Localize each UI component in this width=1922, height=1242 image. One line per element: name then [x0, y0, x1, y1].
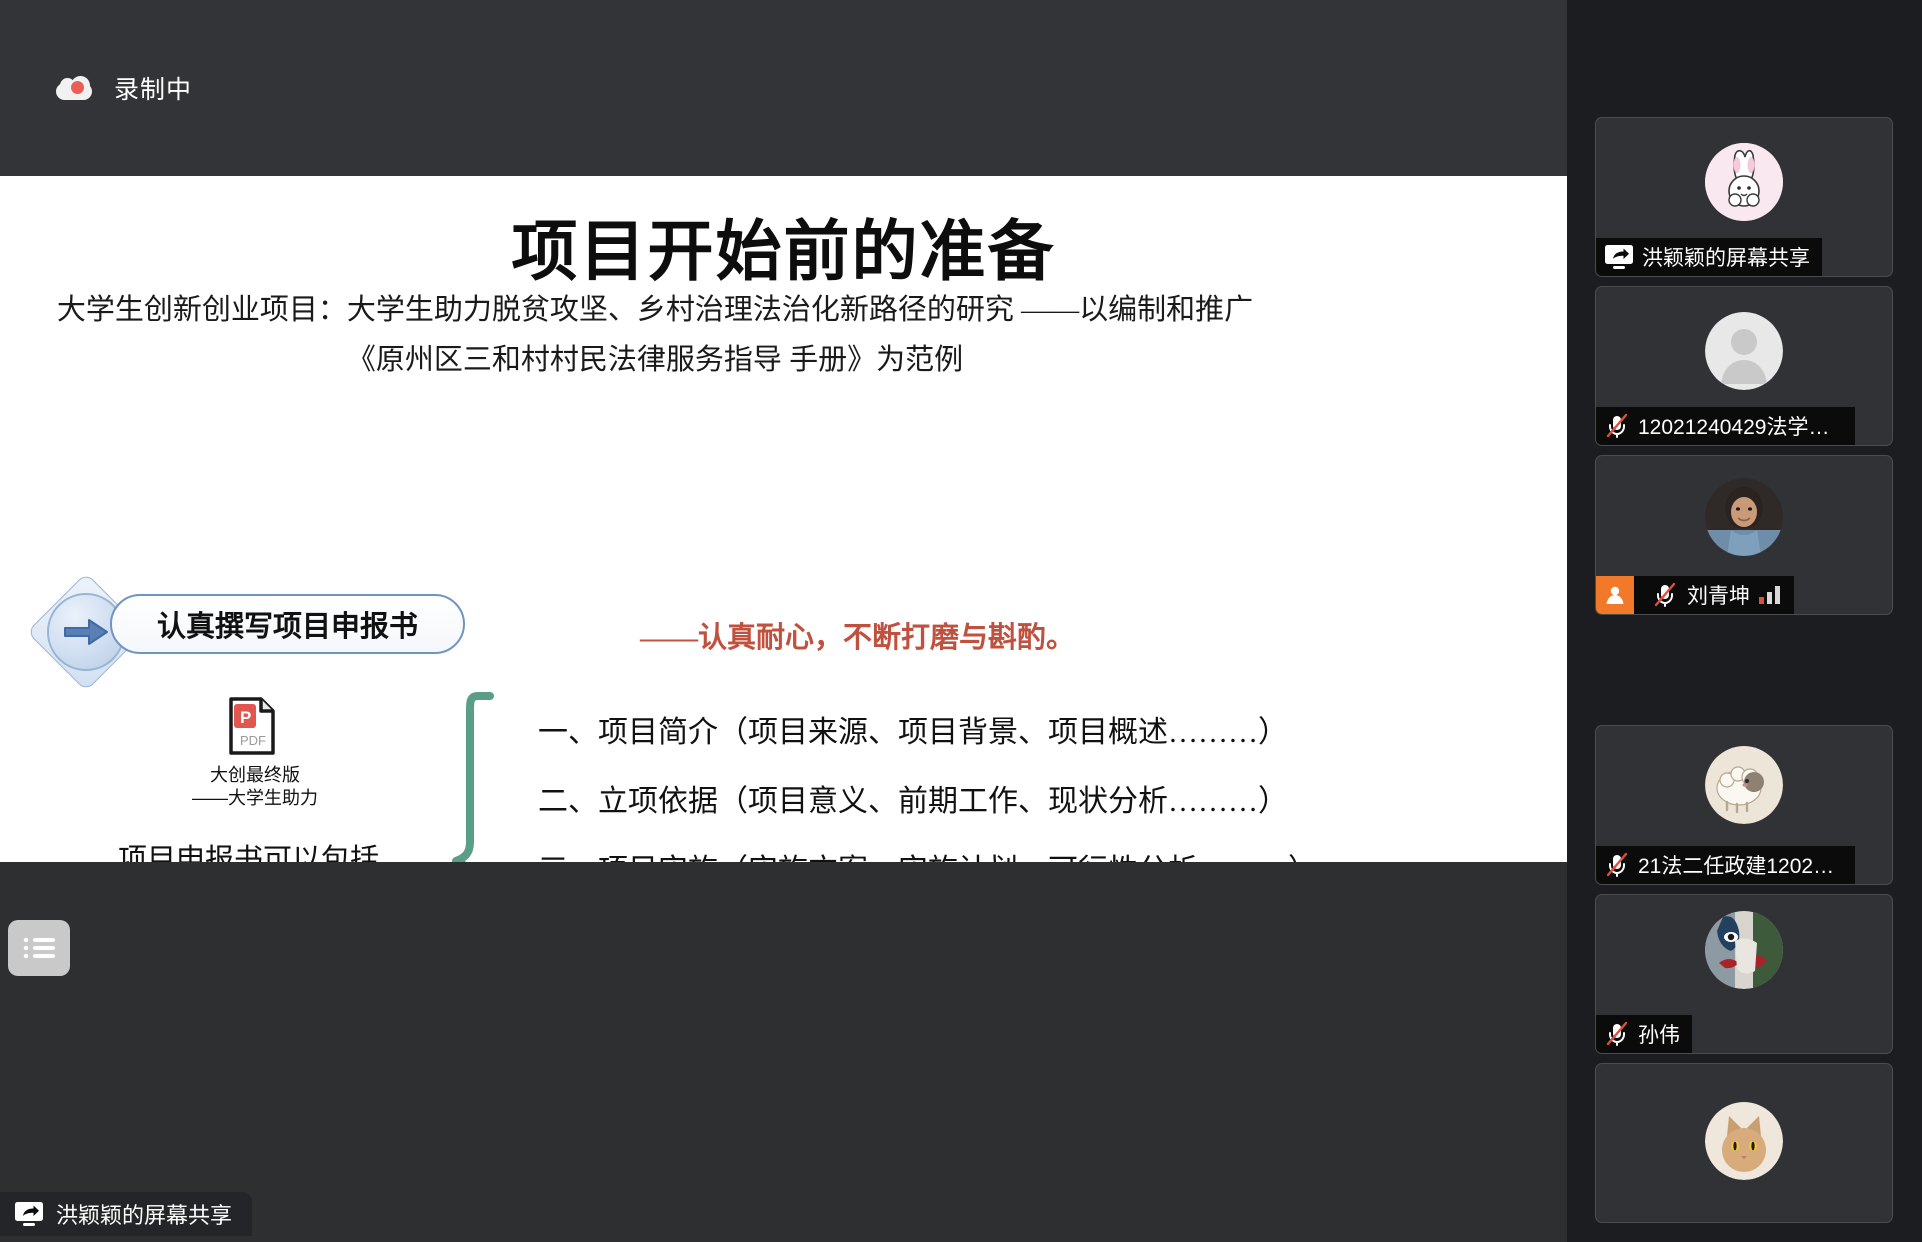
participant-label: 21法二任政建120212… [1596, 846, 1855, 884]
highlight-pill: 认真撰写项目申报书 [110, 594, 465, 654]
list-item: 三、项目实施（实施方案、实施计划、可行性分析………） [538, 836, 1238, 862]
screen-share-icon [1604, 244, 1634, 270]
rabbit-avatar [1705, 143, 1783, 221]
pdf-file-icon: P PDF [228, 697, 276, 755]
list-side-label: 项目申报书可以包括 [118, 836, 379, 862]
participant-label: 12021240429法学一… [1596, 407, 1855, 445]
mic-off-icon [1604, 1021, 1630, 1047]
slide-outline-list: 一、项目简介（项目来源、项目背景、项目概述………） 二、立项依据（项目意义、前期… [538, 698, 1238, 862]
share-tag-label: 洪颖颖的屏幕共享 [56, 1198, 232, 1230]
participant-tile[interactable]: 刘青坤 [1595, 455, 1893, 615]
participant-name: 21法二任政建120212… [1638, 850, 1843, 880]
participant-tile[interactable]: 孙伟 [1595, 894, 1893, 1054]
cloud-record-icon [56, 76, 92, 100]
list-toggle-button[interactable] [8, 920, 70, 976]
participant-tile[interactable] [1595, 1063, 1893, 1223]
right-arrow-icon [63, 617, 109, 647]
participant-name: 孙伟 [1638, 1019, 1680, 1049]
participant-sidebar[interactable]: 洪颖颖的屏幕共享 12021240429法学一… [1567, 0, 1922, 1242]
list-item: 一、项目简介（项目来源、项目背景、项目概述………） [538, 698, 1238, 767]
pill-label: 认真撰写项目申报书 [157, 603, 418, 645]
pdf-caption-line1: 大创最终版 [210, 765, 300, 785]
slide-title: 项目开始前的准备 [0, 198, 1567, 294]
list-item: 二、立项依据（项目意义、前期工作、现状分析………） [538, 767, 1238, 836]
meeting-screen-share-window: 录制中 项目开始前的准备 大学生创新创业项目：大学生助力脱贫攻坚、乡村治理法治化… [0, 0, 1922, 1242]
recording-bar: 录制中 [0, 0, 1567, 176]
red-annotation: ——认真耐心，不断打磨与斟酌。 [640, 614, 1075, 656]
screen-share-tag[interactable]: 洪颖颖的屏幕共享 [0, 1192, 252, 1236]
participant-tile[interactable]: 洪颖颖的屏幕共享 [1595, 117, 1893, 277]
joker-avatar [1705, 911, 1783, 989]
pdf-caption-line2: ——大学生助力 [150, 787, 360, 810]
curly-brace-icon [452, 692, 494, 862]
default-person-avatar [1705, 312, 1783, 390]
mic-off-icon [1652, 582, 1678, 608]
participant-name: 洪颖颖的屏幕共享 [1642, 242, 1810, 272]
recording-label: 录制中 [114, 70, 192, 106]
participant-label: 洪颖颖的屏幕共享 [1596, 238, 1822, 276]
participant-label: 刘青坤 [1596, 576, 1794, 614]
mic-off-icon [1604, 413, 1630, 439]
participant-name: 12021240429法学一… [1638, 411, 1843, 441]
svg-text:P: P [240, 708, 251, 727]
mic-off-icon [1604, 852, 1630, 878]
participant-tile[interactable]: 21法二任政建120212… [1595, 725, 1893, 885]
screen-share-icon [14, 1201, 44, 1227]
cat-avatar [1705, 1102, 1783, 1180]
host-badge-icon [1596, 576, 1634, 614]
signal-strength-icon [1759, 586, 1780, 604]
sheep-avatar [1705, 746, 1783, 824]
participant-tile[interactable]: 12021240429法学一… [1595, 286, 1893, 446]
shared-screen-stage: 录制中 项目开始前的准备 大学生创新创业项目：大学生助力脱贫攻坚、乡村治理法治化… [0, 0, 1567, 1242]
slide-subtitle: 大学生创新创业项目：大学生助力脱贫攻坚、乡村治理法治化新路径的研究 ——以编制和… [55, 286, 1255, 386]
participant-label: 孙伟 [1596, 1015, 1692, 1053]
participant-name: 刘青坤 [1687, 580, 1750, 610]
pdf-file-caption: 大创最终版 ——大学生助力 [150, 764, 360, 809]
presentation-slide: 项目开始前的准备 大学生创新创业项目：大学生助力脱贫攻坚、乡村治理法治化新路径的… [0, 176, 1567, 862]
list-icon [22, 936, 56, 960]
photo-avatar-man [1705, 478, 1783, 556]
svg-text:PDF: PDF [240, 733, 266, 748]
